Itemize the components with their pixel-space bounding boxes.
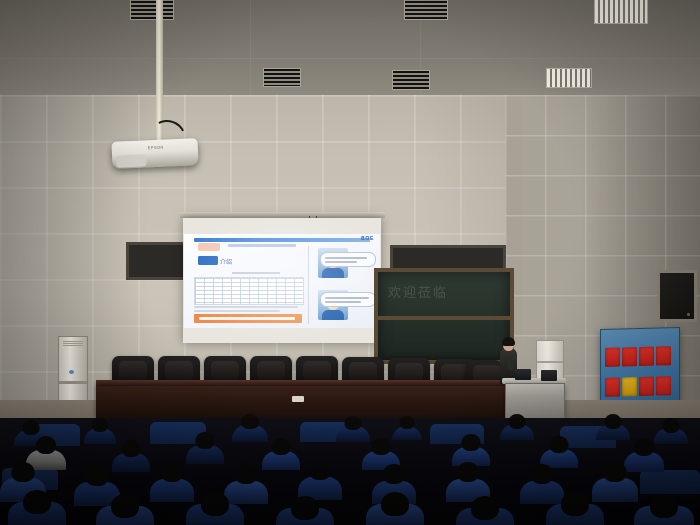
audience-member	[500, 414, 534, 440]
slide-subtitle-rule	[228, 244, 296, 247]
audience-member	[8, 490, 66, 525]
presenter-hair	[502, 337, 515, 346]
air-vent-icon	[130, 0, 174, 20]
chalkboard-text: 欢迎莅临	[388, 282, 448, 301]
banner-line-1	[605, 346, 671, 367]
ac-vent-icon	[63, 341, 83, 346]
slide-text-line	[194, 310, 280, 312]
chalkboard-rail	[378, 316, 510, 320]
projector-lens-icon	[116, 154, 146, 167]
audience-member	[298, 460, 342, 500]
audience-member	[392, 416, 422, 440]
laptop	[515, 369, 531, 380]
slide-header-bar	[194, 238, 370, 242]
slide-table-caption	[232, 272, 280, 274]
audience-member	[96, 494, 154, 525]
slide-section-label: 介绍	[220, 257, 232, 266]
projector: EPSON	[111, 138, 198, 169]
slide-highlight-banner	[194, 314, 302, 323]
ac-led-icon	[69, 370, 74, 374]
audience-member	[596, 414, 630, 440]
speaker-indicator-icon	[687, 313, 690, 316]
banner-line-2	[605, 376, 671, 397]
ceiling-seam	[0, 58, 700, 59]
auditorium-seat	[640, 470, 700, 494]
ceiling-light-icon	[546, 68, 592, 88]
audience-member	[186, 492, 244, 525]
dark-wall-panel	[126, 242, 188, 280]
audience-member	[186, 432, 224, 464]
slide-content: BOE 介绍	[184, 234, 380, 328]
audience-member	[276, 496, 334, 525]
air-vent-icon	[263, 68, 301, 87]
audience-member	[634, 494, 694, 525]
air-vent-icon	[404, 0, 448, 20]
avatar-body	[322, 268, 344, 278]
projector-brand-label: EPSON	[148, 145, 164, 151]
stage-label-plate	[292, 396, 304, 402]
audience-area	[0, 418, 700, 525]
slide-text-line	[194, 306, 298, 308]
audience-member	[456, 496, 514, 525]
laptop	[541, 370, 557, 381]
slide-section-tag	[198, 256, 218, 265]
wall-speaker	[657, 270, 697, 322]
classroom-scene: EPSON BOE 介绍	[0, 0, 700, 525]
cabinet-seam	[537, 361, 563, 363]
ac-panel-seam	[59, 381, 87, 384]
audience-member	[546, 492, 604, 525]
chalkboard: 欢迎莅临	[374, 268, 514, 364]
air-vent-icon	[392, 70, 430, 90]
projection-screen: BOE 介绍	[183, 218, 381, 343]
slide-speech-bubble	[320, 252, 376, 267]
slide-data-table	[194, 277, 304, 305]
slide-speech-bubble	[320, 292, 376, 307]
slide-brand-mark	[198, 243, 220, 251]
audience-member	[366, 492, 424, 525]
slide-divider	[308, 246, 309, 324]
ceiling-light-icon	[594, 0, 648, 24]
stage-facade	[96, 386, 516, 420]
avatar-body	[322, 310, 344, 320]
slide-logo: BOE	[361, 236, 374, 242]
